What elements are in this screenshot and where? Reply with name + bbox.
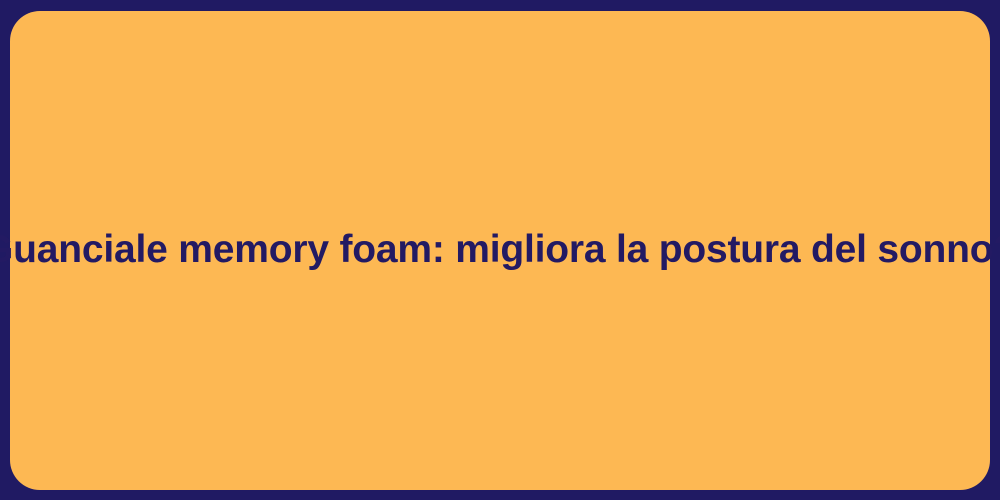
- card-panel: Guanciale memory foam: migliora la postu…: [10, 11, 990, 490]
- page-title: Guanciale memory foam: migliora la postu…: [0, 228, 1000, 273]
- card-outer-frame: Guanciale memory foam: migliora la postu…: [0, 0, 1000, 500]
